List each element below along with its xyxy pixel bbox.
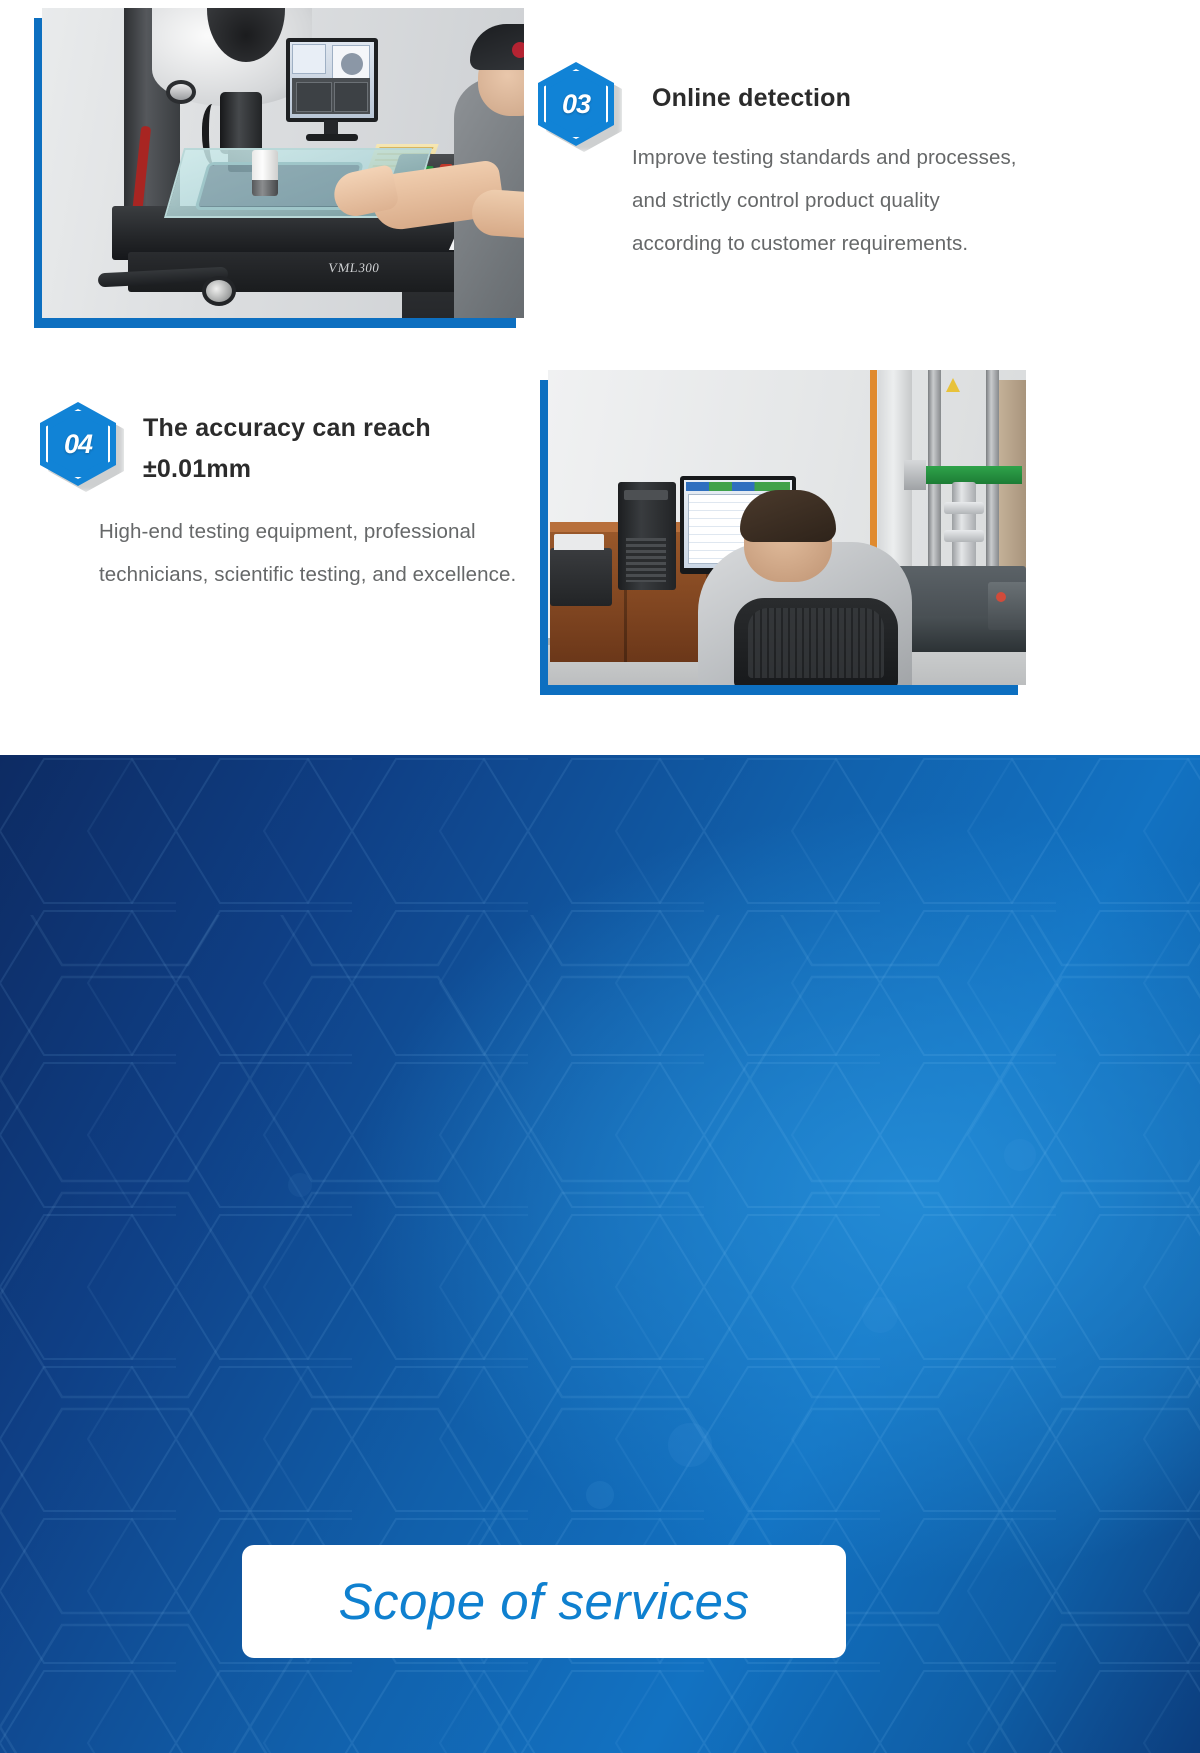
cmm-monitor-base — [306, 134, 358, 141]
feature-title-03: Online detection — [652, 78, 1072, 119]
features-section: VML300 03 Online detection Improve testi… — [0, 0, 1200, 755]
cmm-handwheel — [202, 276, 236, 306]
cmm-monitor-screen — [290, 42, 374, 118]
feature-body-04: High-end testing equipment, professional… — [99, 510, 539, 596]
feature-title-04: The accuracy can reach ±0.01mm — [143, 408, 523, 490]
utm-specimen-grips — [952, 482, 976, 568]
screen-panel-bottom — [292, 78, 370, 114]
utm-control-panel — [988, 582, 1026, 630]
services-section: Scope of services 01 CNC processing of e… — [0, 755, 1200, 1753]
cmm-scene: VML300 — [42, 8, 524, 318]
feature-number-04: 04 — [40, 402, 116, 486]
photo-inner: VML300 — [42, 8, 524, 318]
cmm-focus-knob — [166, 80, 196, 104]
cmm-specimen-part — [252, 150, 278, 196]
photo-inner — [548, 370, 1026, 685]
utm-printer — [550, 548, 612, 606]
feature-badge-03: 03 — [538, 62, 614, 146]
feature-badge-04: 04 — [40, 402, 116, 486]
screen-panel-top — [292, 44, 326, 74]
services-heading: Scope of services — [338, 1572, 749, 1631]
services-title-card: Scope of services — [242, 1545, 846, 1658]
cap-logo-icon — [512, 42, 524, 58]
feature-number-03: 03 — [538, 62, 614, 146]
technician-hair — [740, 490, 836, 542]
utm-desktop-tower — [618, 482, 676, 590]
cmm-lens — [220, 92, 262, 154]
machine-model-label: VML300 — [327, 260, 381, 276]
utm-scene — [548, 370, 1026, 685]
optical-measuring-machine-photo: VML300 — [42, 8, 524, 318]
office-chair — [734, 598, 898, 685]
feature-body-03: Improve testing standards and processes,… — [632, 136, 1032, 265]
universal-testing-machine-photo — [548, 370, 1026, 685]
